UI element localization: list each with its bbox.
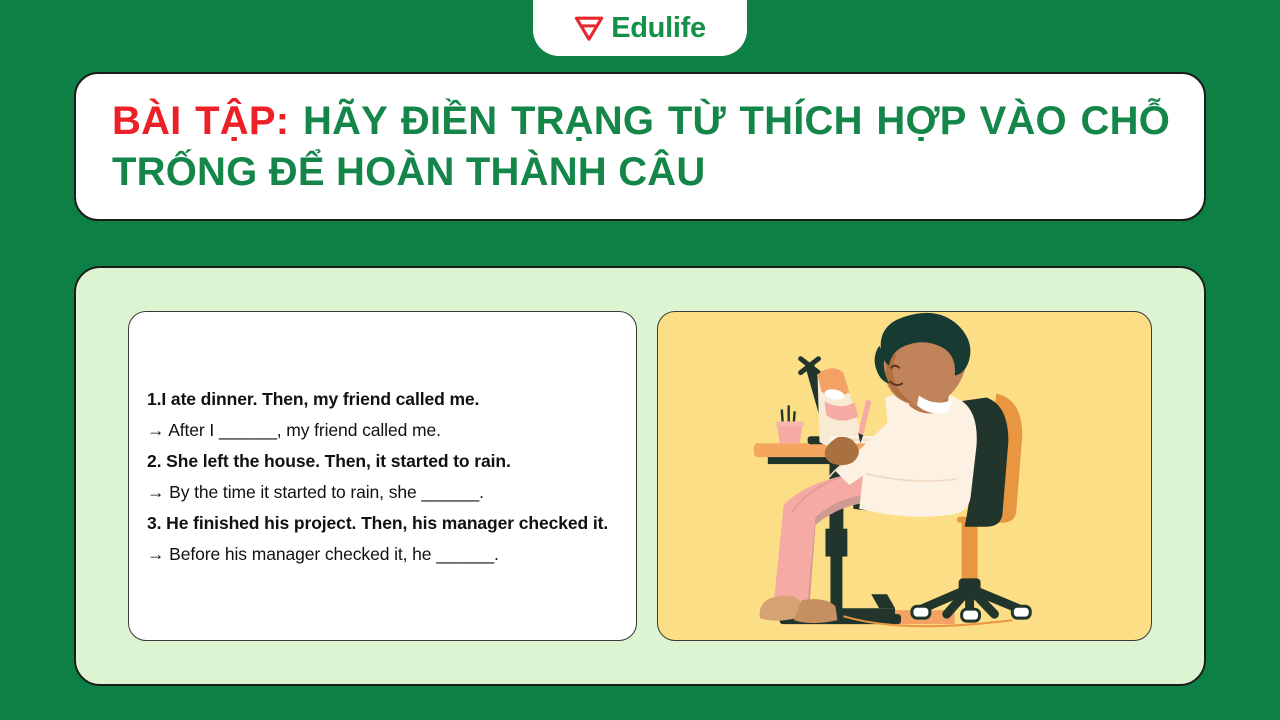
question-2-number: 2.	[147, 451, 166, 471]
content-panel: 1.I ate dinner. Then, my friend called m…	[74, 266, 1206, 686]
question-3: 3. He finished his project. Then, his ma…	[147, 508, 618, 539]
exercise-title-card: BÀI TẬP: HÃY ĐIỀN TRẠNG TỪ THÍCH HỢP VÀO…	[74, 72, 1206, 221]
exercise-questions-card: 1.I ate dinner. Then, my friend called m…	[128, 311, 637, 641]
answer-line-1: → After I ______, my friend called me.	[147, 415, 618, 446]
question-1-prompt: I ate dinner. Then, my friend called me.	[161, 389, 479, 409]
brand-logo-tab: Edulife	[533, 0, 747, 56]
desk-study-illustration	[658, 312, 1151, 640]
illustration-card	[657, 311, 1152, 641]
answer-line-3: → Before his manager checked it, he ____…	[147, 539, 618, 570]
answer-line-2: → By the time it started to rain, she __…	[147, 477, 618, 508]
page-title: BÀI TẬP: HÃY ĐIỀN TRẠNG TỪ THÍCH HỢP VÀO…	[112, 96, 1170, 198]
question-2-prompt: She left the house. Then, it started to …	[166, 451, 511, 471]
question-2: 2. She left the house. Then, it started …	[147, 446, 618, 477]
brand-name: Edulife	[611, 12, 706, 45]
question-1: 1.I ate dinner. Then, my friend called m…	[147, 384, 618, 415]
question-3-number: 3.	[147, 513, 166, 533]
edulife-triangle-mark-icon	[574, 15, 604, 41]
question-1-number: 1.	[147, 389, 161, 409]
question-3-prompt: He finished his project. Then, his manag…	[166, 513, 608, 533]
page-title-highlight: BÀI TẬP:	[112, 99, 289, 143]
